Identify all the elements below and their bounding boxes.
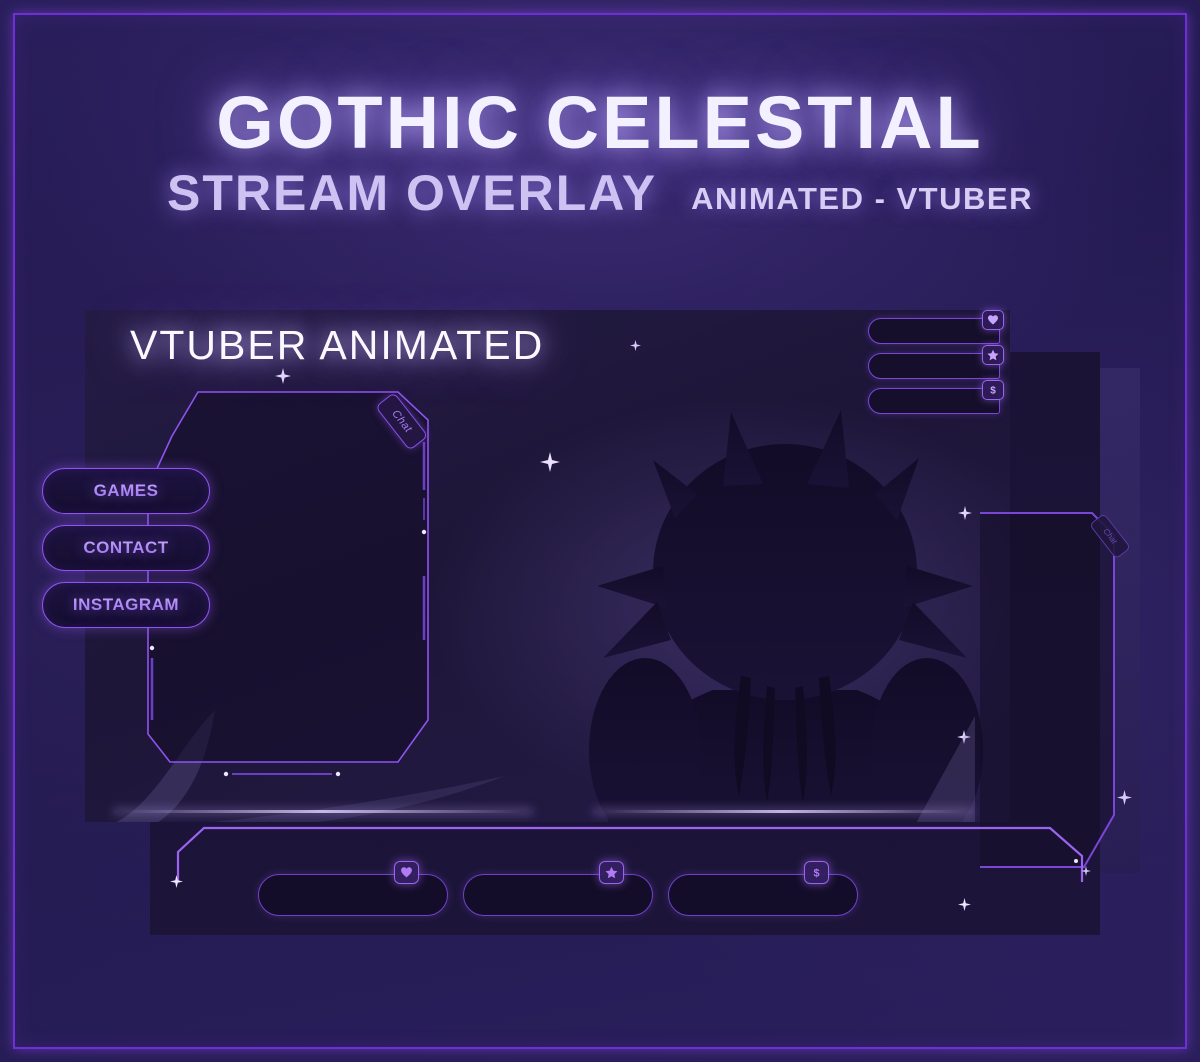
nav-button-label: INSTAGRAM: [73, 595, 179, 615]
crescent-moon-icon: [91, 798, 113, 820]
nav-button-label: CONTACT: [83, 538, 168, 558]
glow-strip: [113, 810, 533, 813]
nav-button-games[interactable]: GAMES: [42, 468, 210, 514]
alert-pill-follow[interactable]: [868, 318, 1000, 344]
nav-button-group: GAMES CONTACT INSTAGRAM: [42, 468, 210, 639]
nav-button-instagram[interactable]: INSTAGRAM: [42, 582, 210, 628]
svg-text:$: $: [813, 867, 819, 879]
page-title: GOTHIC CELESTIAL: [0, 86, 1200, 160]
canvas-heading: VTUBER ANIMATED: [130, 322, 544, 369]
alert-pill-stack: $: [868, 318, 1000, 423]
page-tagline: ANIMATED - VTUBER: [691, 183, 1033, 218]
overlay-preview-canvas: GOTHIC CELESTIAL STREAM OVERLAY ANIMATED…: [0, 0, 1200, 1062]
svg-text:$: $: [990, 386, 996, 397]
dollar-icon: $: [982, 380, 1004, 400]
right-panel-frame[interactable]: [980, 505, 1120, 875]
dollar-icon: $: [804, 861, 829, 884]
subtitle-row: STREAM OVERLAY ANIMATED - VTUBER: [0, 168, 1200, 218]
heart-icon: [394, 861, 419, 884]
glow-strip: [593, 810, 973, 813]
bottom-bar-group: $: [258, 866, 858, 916]
bottom-bar-donation[interactable]: $: [668, 874, 858, 916]
headline-block: GOTHIC CELESTIAL STREAM OVERLAY ANIMATED…: [0, 86, 1200, 218]
nav-button-contact[interactable]: CONTACT: [42, 525, 210, 571]
bottom-bar-follow[interactable]: [258, 874, 448, 916]
star-icon: [599, 861, 624, 884]
vtuber-silhouette: [545, 390, 1010, 822]
chat-tab-label-right: Chat: [1101, 527, 1119, 546]
nav-button-label: GAMES: [94, 481, 159, 501]
star-icon: [982, 345, 1004, 365]
alert-pill-sub[interactable]: [868, 353, 1000, 379]
sparkle-star-icon: [275, 368, 291, 384]
crescent-moon-icon: [320, 925, 338, 943]
heart-icon: [982, 310, 1004, 330]
bottom-bar-sub[interactable]: [463, 874, 653, 916]
page-subtitle: STREAM OVERLAY: [167, 168, 657, 218]
alert-pill-donation[interactable]: $: [868, 388, 1000, 414]
